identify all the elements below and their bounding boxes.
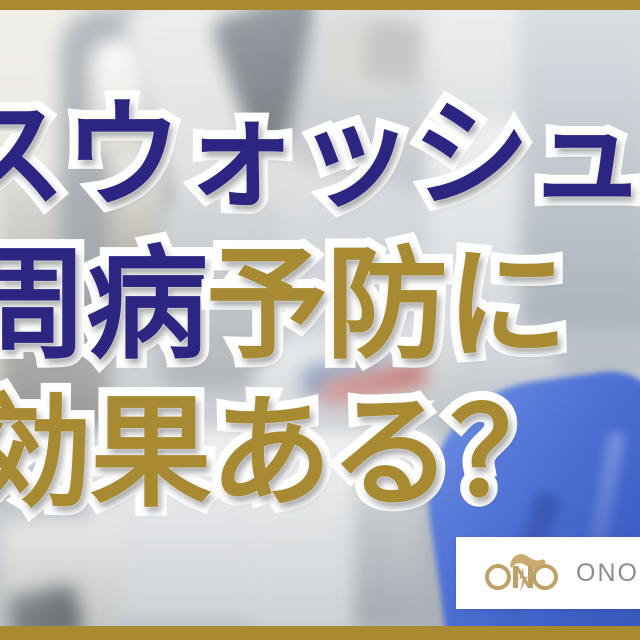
clinic-logo: ONO <box>456 537 640 609</box>
logo-wordmark: ONO <box>576 559 639 588</box>
bottom-accent-bar <box>0 626 640 640</box>
thumbnail-canvas: スウォッシュ 周病予防に 効果ある？ ONO <box>0 0 640 640</box>
tooth-icon <box>484 550 562 596</box>
top-accent-bar <box>0 0 640 10</box>
